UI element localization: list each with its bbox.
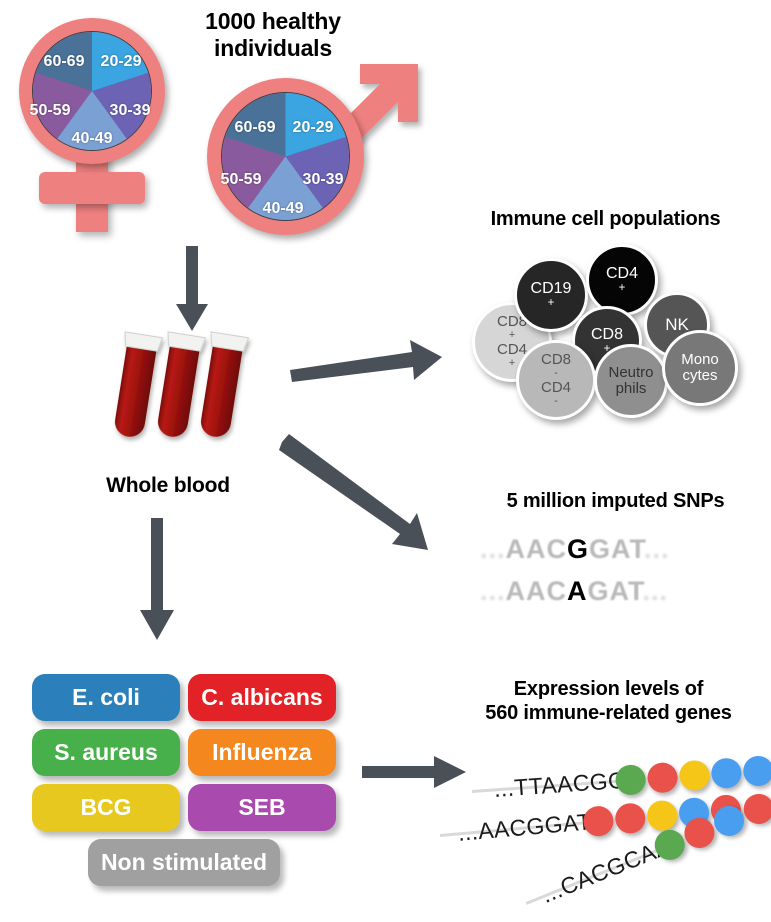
pie-label-40-49: 40-49 — [72, 130, 113, 148]
blood-tube — [109, 332, 163, 440]
stimulus-e-coli[interactable]: E. coli — [32, 674, 180, 721]
snp-right: GAT — [589, 534, 644, 564]
immune-cell-cluster: CD8+ CD4+ CD19+ CD4+ CD8+ NK CD8- CD4- N… — [440, 240, 771, 420]
cell-label-line1: Neutro — [608, 365, 653, 381]
pie-label-20-29: 20-29 — [293, 119, 334, 137]
cell-label: CD19+ — [531, 280, 572, 310]
stimulus-bcg[interactable]: BCG — [32, 784, 180, 831]
snp-sequences: ...AACGGAT... ...AACAGAT... — [470, 530, 760, 620]
expression-bead — [614, 802, 647, 835]
snp-right: GAT — [588, 576, 643, 606]
female-symbol: 20-29 30-39 40-49 50-59 60-69 — [6, 14, 196, 234]
stimulus-c-albicans[interactable]: C. albicans — [188, 674, 336, 721]
blood-tube — [152, 332, 206, 440]
figure-canvas: 1000 healthy individuals 20-29 30-39 40-… — [0, 0, 771, 922]
snp-sequence-row: ...AACGGAT... — [480, 534, 670, 565]
cell-label-line2: cytes — [682, 368, 717, 384]
cell-label: CD4+ — [606, 265, 638, 295]
snp-suffix: ... — [643, 576, 669, 606]
immune-cell-cd8neg-cd4neg: CD8- CD4- — [516, 340, 596, 420]
snp-sequence-row: ...AACAGAT... — [480, 576, 668, 607]
immune-cell-neutrophils: Neutro phils — [594, 344, 668, 418]
blood-tubes-svg — [100, 330, 280, 455]
immune-cell-cd4pos: CD4+ — [586, 244, 658, 316]
blood-tube — [195, 332, 249, 440]
pie-label-30-39: 30-39 — [110, 102, 151, 120]
cell-label-line2: CD4- — [541, 380, 571, 408]
female-crossbar — [39, 172, 145, 204]
snp-title: 5 million imputed SNPs — [460, 490, 771, 514]
stimulus-s-aureus[interactable]: S. aureus — [32, 729, 180, 776]
stimulus-influenza[interactable]: Influenza — [188, 729, 336, 776]
snp-suffix: ... — [644, 534, 670, 564]
stimulus-non-stimulated[interactable]: Non stimulated — [88, 839, 280, 886]
snp-prefix: ... — [480, 534, 506, 564]
expression-bead — [742, 755, 771, 787]
pie-label-20-29: 20-29 — [101, 53, 142, 71]
snp-variant-allele: A — [567, 576, 588, 606]
strand-sequence: ...AACGGAT — [457, 808, 593, 847]
expression-strands: ...TTAACGG ...AACGGAT ...CACGCAA — [446, 740, 771, 920]
expression-title-line1: Expression levels of — [446, 678, 771, 702]
cell-label-line1: Mono — [681, 352, 719, 368]
pie-label-50-59: 50-59 — [30, 102, 71, 120]
immune-title: Immune cell populations — [440, 208, 771, 232]
cell-label-line1: CD8- — [541, 352, 571, 380]
pie-label-40-49: 40-49 — [263, 200, 304, 218]
male-symbol: 20-29 30-39 40-49 50-59 60-69 — [196, 58, 436, 248]
stimulus-seb[interactable]: SEB — [188, 784, 336, 831]
expression-bead — [678, 759, 710, 791]
snp-left: AAC — [506, 576, 568, 606]
snp-left: AAC — [506, 534, 568, 564]
expression-title-line2: 560 immune-related genes — [446, 702, 771, 726]
snp-prefix: ... — [480, 576, 506, 606]
snp-variant-allele: G — [567, 534, 589, 564]
arrow-cohort-to-blood — [172, 246, 212, 341]
expression-bead — [647, 762, 679, 794]
expression-bead — [710, 757, 742, 789]
pie-label-60-69: 60-69 — [235, 119, 276, 137]
arrow-blood-to-stimuli — [138, 518, 178, 648]
cell-label: NK — [665, 316, 689, 334]
arrow-blood-to-snps — [282, 440, 462, 570]
pie-label-50-59: 50-59 — [221, 171, 262, 189]
blood-tubes-group — [100, 330, 280, 455]
pie-label-30-39: 30-39 — [303, 171, 344, 189]
expression-title: Expression levels of 560 immune-related … — [446, 678, 771, 725]
immune-cell-monocytes: Mono cytes — [662, 330, 738, 406]
cohort-title-line1: 1000 healthy — [178, 8, 368, 35]
cell-label-line2: phils — [616, 381, 647, 397]
whole-blood-label: Whole blood — [78, 474, 258, 499]
stimuli-panel: E. coli C. albicans S. aureus Influenza … — [32, 674, 342, 894]
strand-sequence: ...TTAACGG — [493, 767, 627, 803]
pie-label-60-69: 60-69 — [44, 53, 85, 71]
arrow-blood-to-immune — [290, 330, 450, 380]
